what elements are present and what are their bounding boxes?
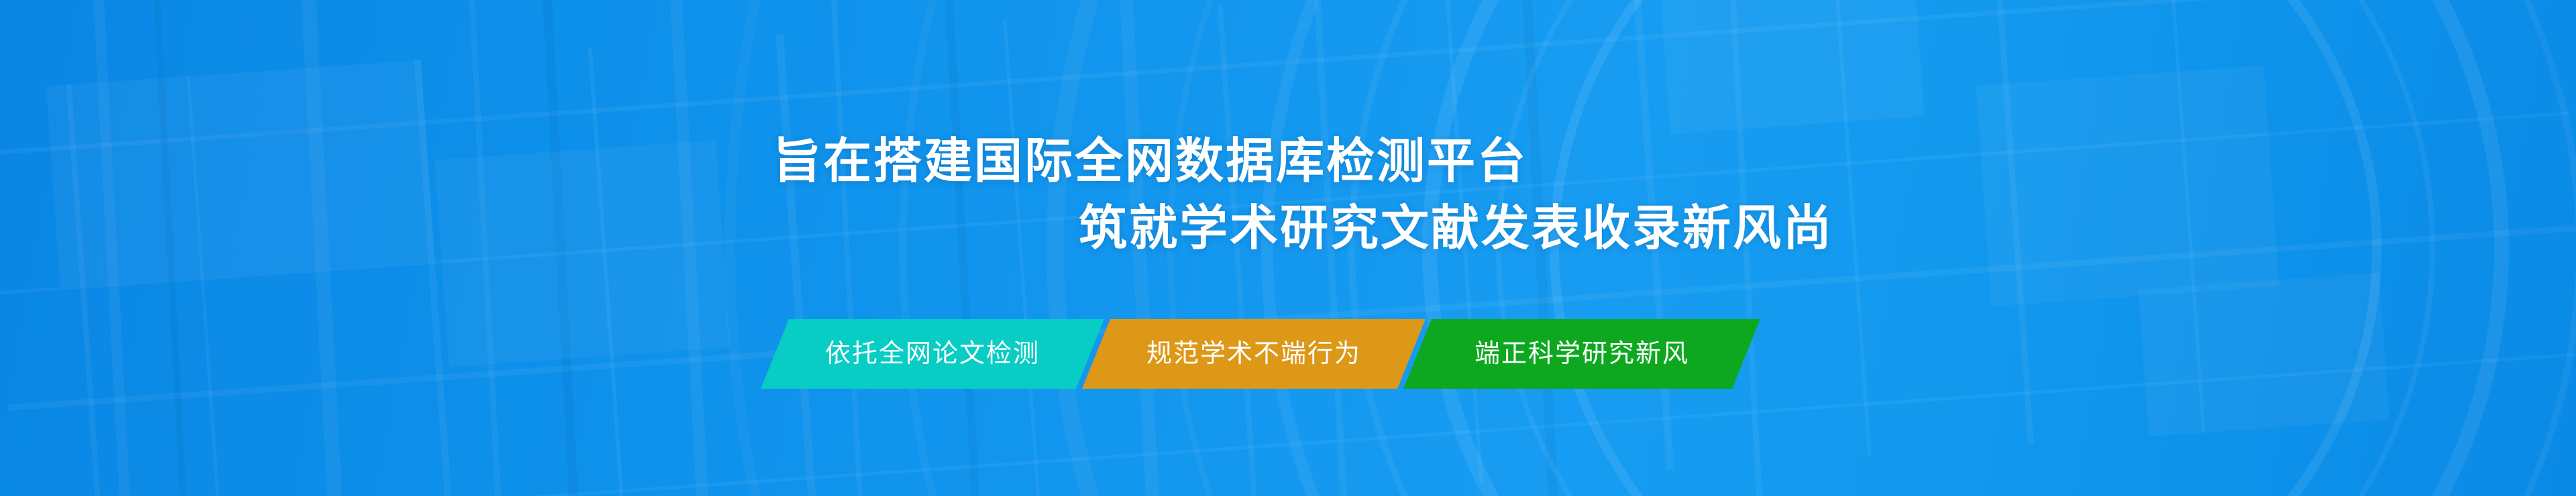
feature-tag-label: 规范学术不端行为 <box>1116 341 1392 367</box>
feature-tag-band: 依托全网论文检测 规范学术不端行为 端正科学研究新风 <box>775 319 1746 389</box>
feature-tag-0[interactable]: 依托全网论文检测 <box>761 319 1104 389</box>
feature-tag-label: 依托全网论文检测 <box>794 341 1071 367</box>
feature-tag-1[interactable]: 规范学术不端行为 <box>1082 319 1426 389</box>
headline-line-1: 旨在搭建国际全网数据库检测平台 <box>773 137 1527 186</box>
headline-block: 旨在搭建国际全网数据库检测平台 筑就学术研究文献发表收录新风尚 <box>0 0 2576 496</box>
feature-tag-2[interactable]: 端正科学研究新风 <box>1403 319 1760 389</box>
headline-line-2: 筑就学术研究文献发表收录新风尚 <box>1079 204 1833 253</box>
promo-banner: 旨在搭建国际全网数据库检测平台 筑就学术研究文献发表收录新风尚 依托全网论文检测… <box>0 0 2576 496</box>
feature-tag-label: 端正科学研究新风 <box>1444 341 1720 367</box>
